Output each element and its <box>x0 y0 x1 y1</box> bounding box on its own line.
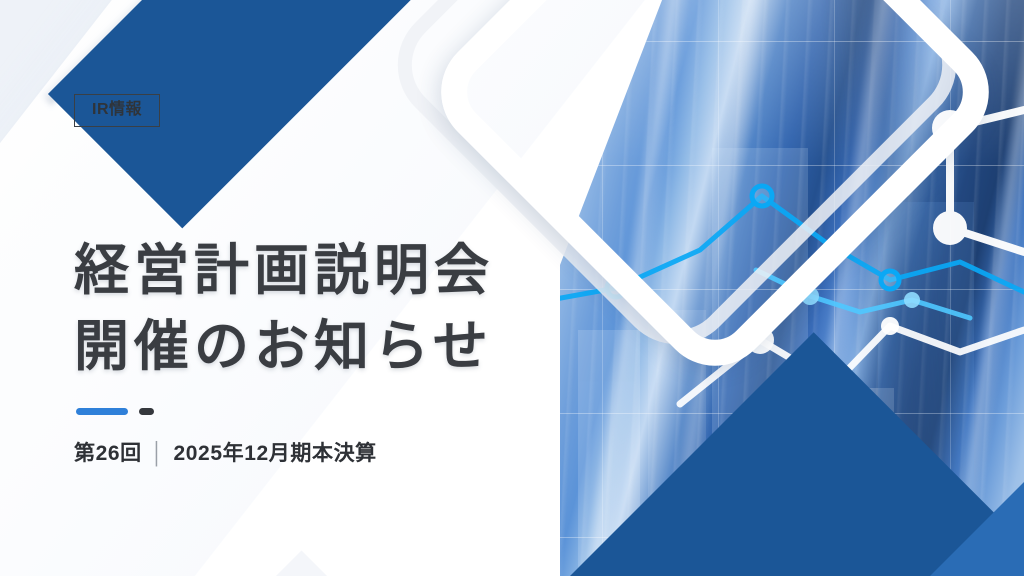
subtitle: 第26回│2025年12月期本決算 <box>74 437 377 467</box>
subtitle-period: 2025年12月期本決算 <box>174 442 377 465</box>
slide-content: IR情報 経営計画説明会 開催のお知らせ 第26回│2025年12月期本決算 <box>74 0 554 576</box>
title-divider <box>76 408 154 415</box>
divider-dash-primary <box>76 408 128 415</box>
page-title-line-2: 開催のお知らせ <box>74 309 594 385</box>
page-title-line-1: 経営計画説明会 <box>74 233 594 309</box>
ir-info-badge-label: IR情報 <box>92 102 142 118</box>
page-title: 経営計画説明会 開催のお知らせ <box>74 233 594 385</box>
ir-info-badge: IR情報 <box>74 94 160 127</box>
subtitle-separator: │ <box>151 442 165 465</box>
ir-announcement-slide: IR情報 経営計画説明会 開催のお知らせ 第26回│2025年12月期本決算 <box>0 0 1024 576</box>
subtitle-edition: 第26回 <box>74 442 142 465</box>
divider-dash-secondary <box>139 408 154 415</box>
